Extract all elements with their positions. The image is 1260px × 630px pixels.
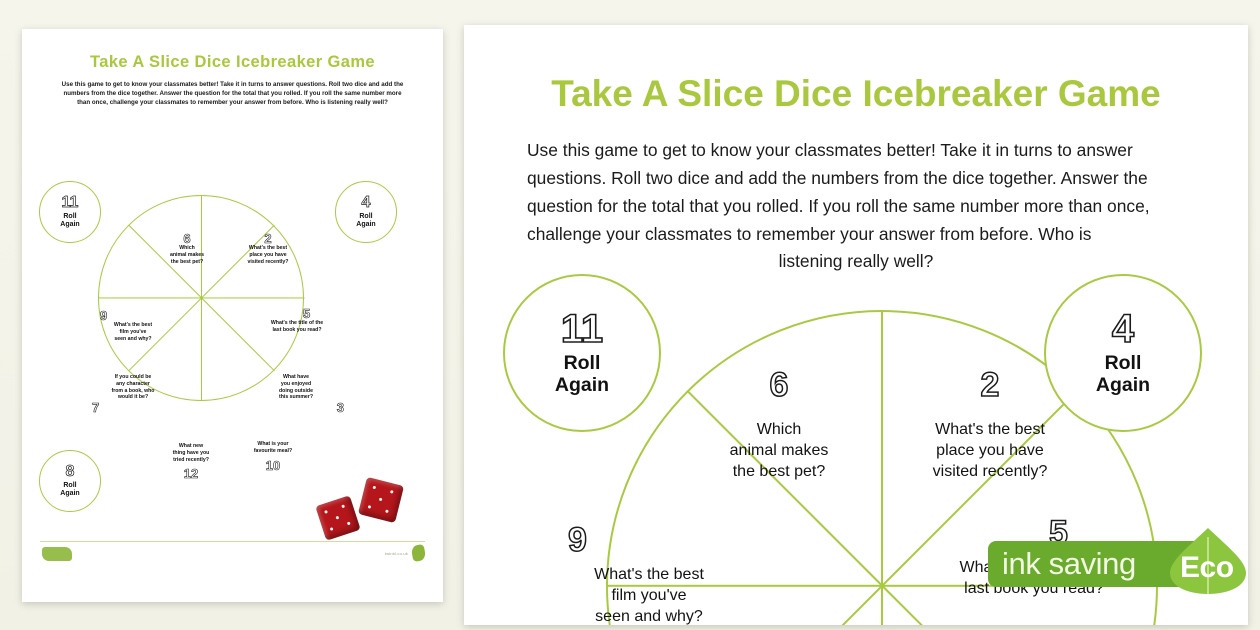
wheel-slice-9[interactable]: 9 What's the bestfilm you'veseen and why… bbox=[554, 523, 744, 625]
roll-again-bubble-11[interactable]: 11 RollAgain bbox=[39, 181, 101, 243]
slice-number: 10 bbox=[240, 459, 306, 472]
intro-paragraph: Use this game to get to know your classm… bbox=[58, 81, 407, 108]
slice-question: What haveyou enjoyeddoing outsidethis su… bbox=[262, 374, 330, 401]
intro-paragraph: Use this game to get to know your classm… bbox=[527, 137, 1185, 276]
slice-number: 6 bbox=[699, 368, 859, 402]
slice-number: 7 bbox=[92, 401, 172, 414]
bubble-number: 11 bbox=[62, 195, 79, 211]
slice-number: 12 bbox=[156, 467, 226, 480]
bubble-number: 4 bbox=[1112, 309, 1134, 349]
wheel-slice-9[interactable]: 9 What's the bestfilm you'veseen and why… bbox=[96, 309, 170, 342]
slice-question: What's the bestplace you havevisited rec… bbox=[904, 420, 1076, 482]
slice-number: 9 bbox=[568, 523, 744, 557]
slice-number: 9 bbox=[100, 309, 170, 322]
leaf-icon bbox=[411, 544, 427, 562]
roll-again-bubble-11[interactable]: 11 RollAgain bbox=[503, 274, 661, 432]
wheel-slice-10[interactable]: What is yourfavourite meal? 10 bbox=[240, 441, 306, 472]
slice-question: Whichanimal makesthe best pet? bbox=[156, 245, 218, 265]
preview-page-thumbnail[interactable]: Take A Slice Dice Icebreaker Game Use th… bbox=[22, 29, 443, 602]
wheel-slice-5[interactable]: 5 What's the title of thelast book you r… bbox=[259, 307, 335, 334]
bubble-label: RollAgain bbox=[356, 213, 375, 229]
page-title: Take A Slice Dice Icebreaker Game bbox=[22, 53, 443, 72]
footer-url: twinkl.co.uk bbox=[385, 551, 408, 556]
page-footer: twinkl.co.uk bbox=[40, 541, 425, 568]
bubble-number: 8 bbox=[66, 464, 75, 480]
page-title: Take A Slice Dice Icebreaker Game bbox=[464, 73, 1248, 115]
bubble-label: RollAgain bbox=[1096, 353, 1150, 397]
slice-question: If you could beany characterfrom a book,… bbox=[94, 374, 172, 401]
slice-question: What's the bestfilm you'veseen and why? bbox=[96, 322, 170, 342]
slice-number: 3 bbox=[262, 401, 344, 414]
die-left bbox=[315, 495, 360, 540]
brand-logo-icon bbox=[42, 547, 72, 561]
slice-question: What newthing have youtried recently? bbox=[156, 443, 226, 463]
wheel-slice-2[interactable]: 2 What's the bestplace you havevisited r… bbox=[234, 232, 302, 265]
slice-question: Whichanimal makesthe best pet? bbox=[699, 420, 859, 482]
slice-number: 2 bbox=[234, 232, 302, 245]
wheel-slice-6[interactable]: 6 Whichanimal makesthe best pet? bbox=[699, 368, 859, 482]
wheel-slice-12[interactable]: What newthing have youtried recently? 12 bbox=[156, 443, 226, 480]
slice-wheel-small: 11 RollAgain 4 RollAgain 8 RollAgain 6 bbox=[22, 169, 443, 559]
ink-saving-eco-badge: ink saving Eco bbox=[988, 527, 1260, 595]
slice-question: What's the title of thelast book you rea… bbox=[259, 320, 335, 334]
roll-again-bubble-4[interactable]: 4 RollAgain bbox=[335, 181, 397, 243]
ink-saving-label: ink saving bbox=[1002, 546, 1136, 582]
slice-question: What is yourfavourite meal? bbox=[240, 441, 306, 455]
slice-number: 5 bbox=[303, 307, 335, 320]
bubble-label: RollAgain bbox=[60, 213, 79, 229]
slice-question: What's the bestfilm you'veseen and why? bbox=[554, 565, 744, 625]
wheel-slice-6[interactable]: 6 Whichanimal makesthe best pet? bbox=[156, 232, 218, 265]
bubble-number: 11 bbox=[561, 309, 603, 349]
wheel-slice-3[interactable]: What haveyou enjoyeddoing outsidethis su… bbox=[262, 374, 330, 414]
footer-brand: twinkl.co.uk bbox=[385, 545, 425, 561]
wheel-slice-7[interactable]: If you could beany characterfrom a book,… bbox=[94, 374, 172, 414]
roll-again-bubble-8[interactable]: 8 RollAgain bbox=[39, 450, 101, 512]
slice-number: 6 bbox=[156, 232, 218, 245]
bubble-label: RollAgain bbox=[555, 353, 609, 397]
screenshot-stage: Take A Slice Dice Icebreaker Game Use th… bbox=[0, 0, 1260, 630]
bubble-number: 4 bbox=[362, 195, 371, 211]
roll-again-bubble-4[interactable]: 4 RollAgain bbox=[1044, 274, 1202, 432]
eco-label: Eco bbox=[1180, 551, 1234, 585]
slice-question: What's the bestplace you havevisited rec… bbox=[234, 245, 302, 265]
bubble-label: RollAgain bbox=[60, 482, 79, 498]
wheel-spoke bbox=[881, 310, 883, 625]
die-right bbox=[358, 477, 404, 523]
